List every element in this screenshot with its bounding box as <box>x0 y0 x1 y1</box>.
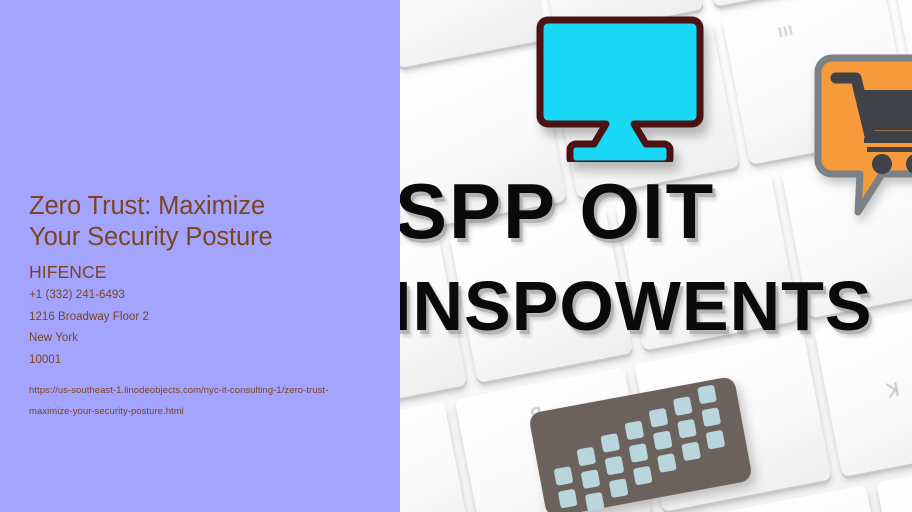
source-url-link[interactable]: https://us-southeast-1.linodeobjects.com… <box>29 380 351 422</box>
contact-details: +1 (332) 241-6493 1216 Broadway Floor 2 … <box>29 285 374 371</box>
shopping-cart-bubble-icon <box>812 52 912 224</box>
company-name: HIFENCE <box>29 262 374 283</box>
article-info-block: Zero Trust: Maximize Your Security Postu… <box>29 191 374 422</box>
contact-zip: 10001 <box>29 350 374 372</box>
contact-city: New York <box>29 328 374 350</box>
key-glyph-marks: ııı <box>775 18 795 43</box>
key-glyph-script: ꓘ <box>885 379 902 404</box>
display-text-line-2: INSPOWENTS <box>400 271 873 341</box>
contact-phone: +1 (332) 241-6493 <box>29 285 374 307</box>
left-info-panel: Zero Trust: Maximize Your Security Postu… <box>0 0 400 512</box>
contact-street: 1216 Broadway Floor 2 <box>29 307 374 329</box>
page-title: Zero Trust: Maximize Your Security Postu… <box>29 191 374 253</box>
display-text-line-1: SPP OIT <box>400 172 715 250</box>
illustration-panel: V ııı ⌐ ꟼ <box>400 0 912 512</box>
monitor-icon <box>534 12 706 162</box>
page-root: Zero Trust: Maximize Your Security Postu… <box>0 0 912 512</box>
